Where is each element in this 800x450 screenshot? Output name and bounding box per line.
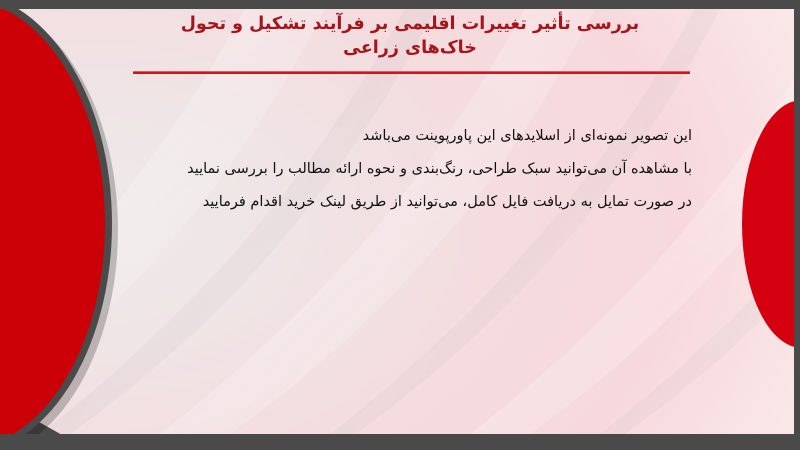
slide-frame-right <box>794 0 800 450</box>
title-divider-rule <box>133 71 690 74</box>
body-line-2: با مشاهده آن می‌توانید سبک طراحی، رنگ‌بن… <box>132 153 692 186</box>
slide-title-line-2: خاک‌های زراعی <box>120 36 700 60</box>
slide-title-line-1: بررسی تأثیر تغییرات اقلیمی بر فرآیند تشک… <box>120 12 700 36</box>
presentation-slide: بررسی تأثیر تغییرات اقلیمی بر فرآیند تشک… <box>0 0 800 450</box>
slide-body-text: این تصویر نمونه‌ای از اسلایدهای این پاور… <box>132 120 692 219</box>
slide-title: بررسی تأثیر تغییرات اقلیمی بر فرآیند تشک… <box>120 12 700 60</box>
body-line-3: در صورت تمایل به دریافت فایل کامل، می‌تو… <box>132 186 692 219</box>
slide-frame-top <box>0 0 800 9</box>
body-line-1: این تصویر نمونه‌ای از اسلایدهای این پاور… <box>132 120 692 153</box>
slide-frame-bottom <box>0 434 800 450</box>
